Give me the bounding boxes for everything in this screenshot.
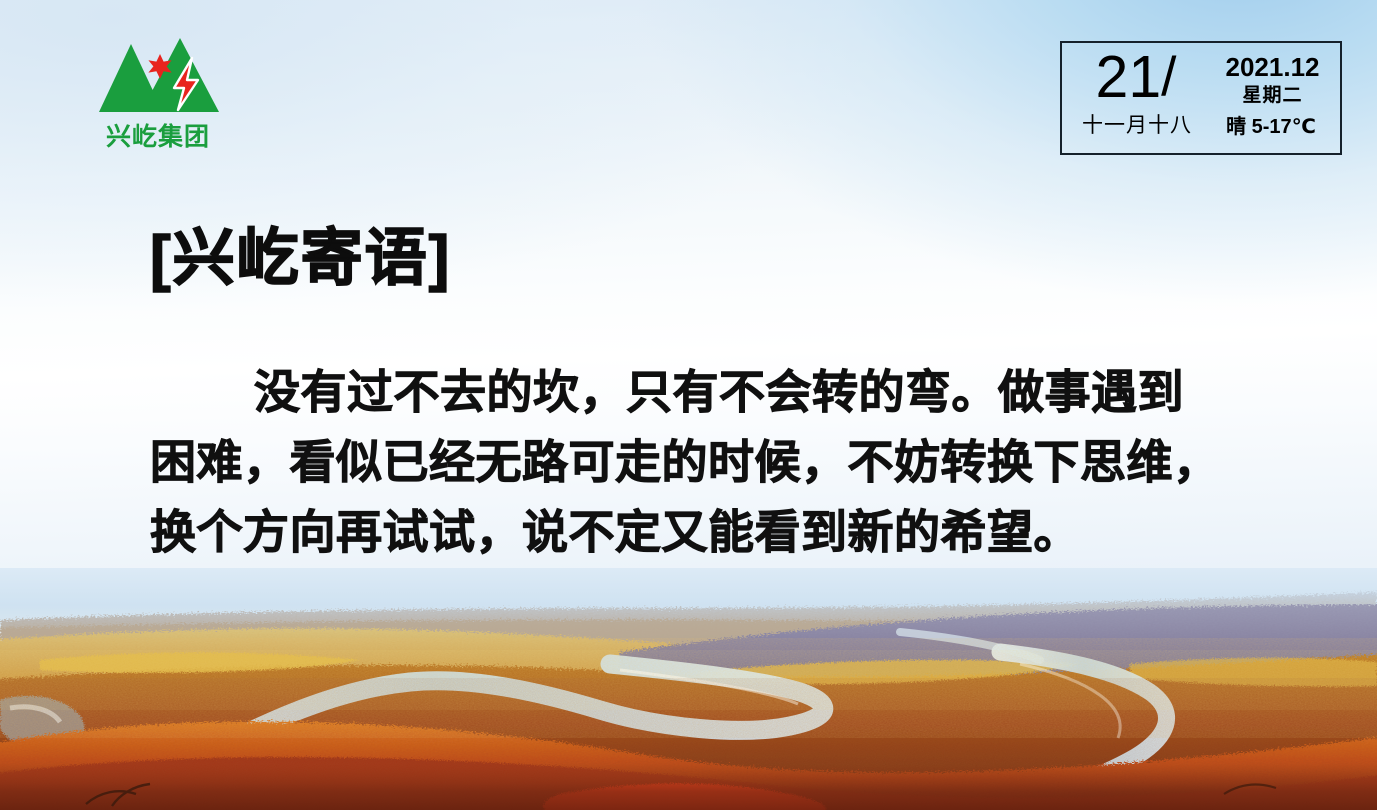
year-month-label: 2021.12	[1210, 52, 1335, 82]
message-line: 没有过不去的坎，只有不会转的弯。做事遇到	[150, 357, 1240, 427]
date-day-number: 21/	[1062, 44, 1210, 111]
date-card-right: 2021.12 星期二 晴 5-17℃	[1210, 43, 1340, 153]
autumn-valley-river-illustration	[0, 568, 1377, 810]
company-name-label: 兴屹集团	[92, 120, 224, 154]
weekday-label: 星期二	[1210, 83, 1335, 109]
mountain-star-bolt-icon	[92, 36, 224, 120]
page-title: [兴屹寄语]	[150, 216, 451, 302]
poster-canvas: 兴屹集团 21/ 十一月十八 2021.12 星期二 晴 5-17℃ [兴屹寄语…	[0, 0, 1377, 810]
landscape-photo	[0, 568, 1377, 810]
message-line: 换个方向再试试，说不定又能看到新的希望。	[150, 497, 1240, 567]
weather-label: 晴 5-17℃	[1202, 113, 1340, 141]
company-logo: 兴屹集团	[92, 36, 224, 158]
message-body: 没有过不去的坎，只有不会转的弯。做事遇到 困难，看似已经无路可走的时候，不妨转换…	[150, 357, 1240, 567]
date-card-left: 21/ 十一月十八	[1062, 43, 1210, 153]
day-value: 21	[1096, 44, 1162, 110]
date-separator: /	[1161, 43, 1176, 109]
date-card: 21/ 十一月十八 2021.12 星期二 晴 5-17℃	[1060, 41, 1342, 155]
lunar-date-label: 十一月十八	[1062, 111, 1212, 141]
message-line: 困难，看似已经无路可走的时候，不妨转换下思维，	[150, 427, 1240, 497]
